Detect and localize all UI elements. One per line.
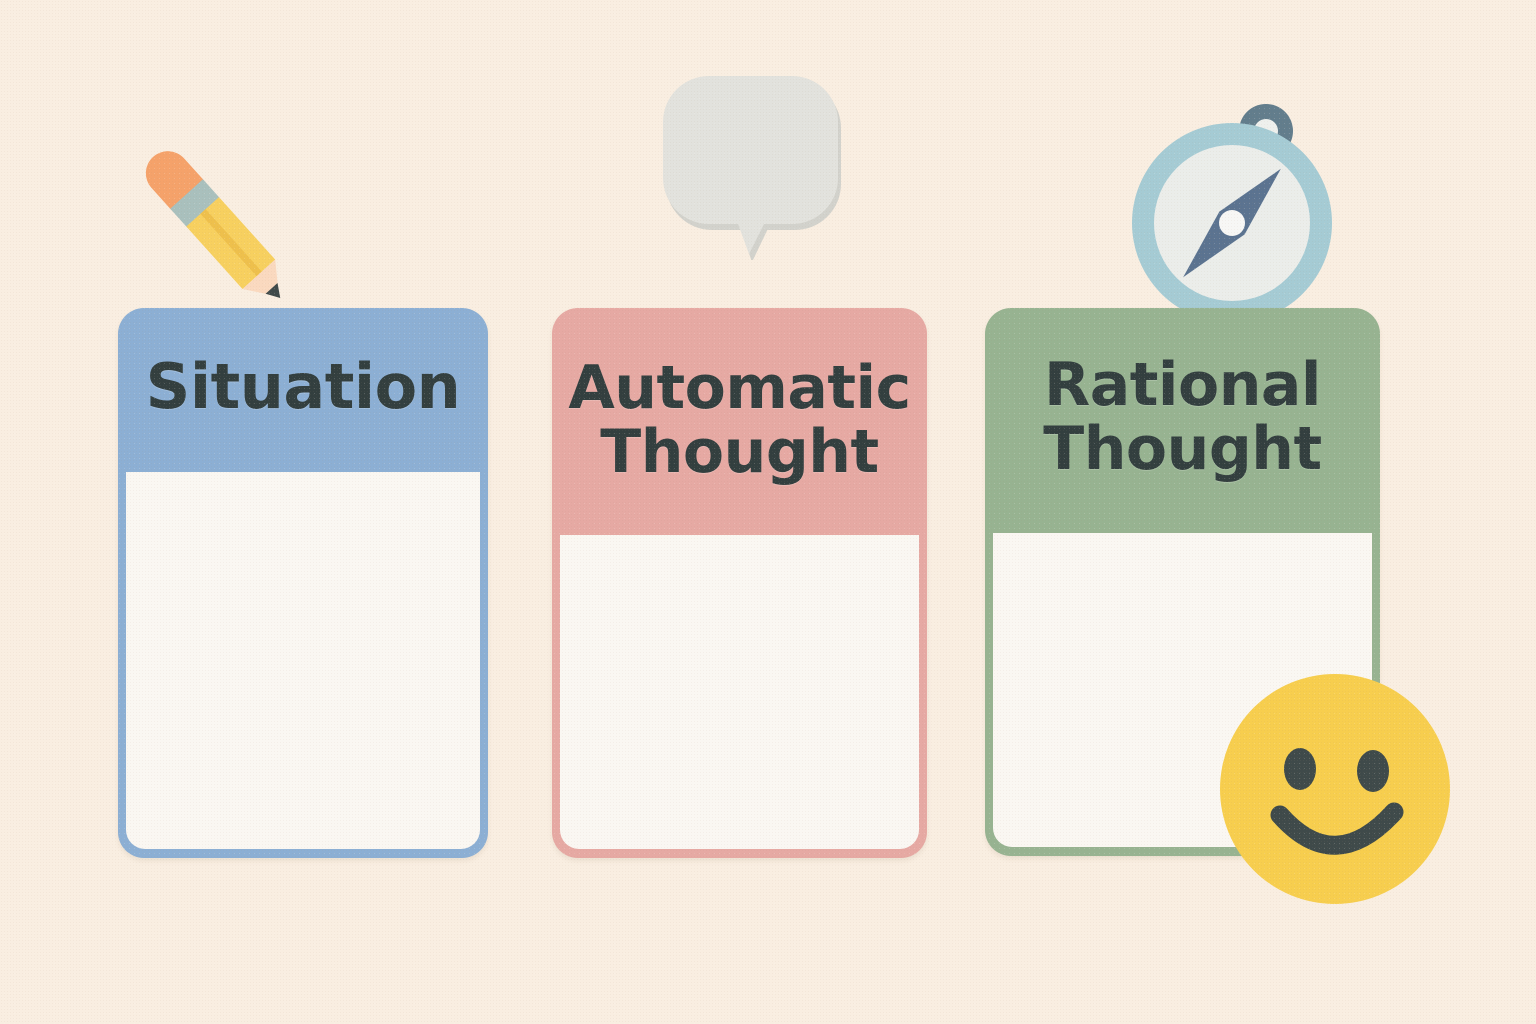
worksheet-canvas: Situation Automatic Thought Rational Tho… <box>0 0 1536 1024</box>
card-automatic-thought-body[interactable] <box>560 535 919 849</box>
card-automatic-thought[interactable]: Automatic Thought <box>552 308 927 858</box>
card-situation[interactable]: Situation <box>118 308 488 858</box>
smiley-face-icon <box>1218 672 1453 911</box>
card-rational-thought-title-line-2: Thought <box>985 417 1380 481</box>
card-rational-thought-title-line-1: Rational <box>985 353 1380 417</box>
card-automatic-thought-title: Automatic Thought <box>552 356 927 484</box>
pencil-icon <box>95 120 325 324</box>
compass-icon <box>1125 98 1340 332</box>
card-situation-body[interactable] <box>126 472 480 849</box>
card-rational-thought-title: Rational Thought <box>985 353 1380 481</box>
card-automatic-thought-title-line-2: Thought <box>552 420 927 484</box>
card-situation-title: Situation <box>118 354 488 420</box>
card-automatic-thought-title-line-1: Automatic <box>552 356 927 420</box>
speech-bubble-icon <box>645 60 855 264</box>
